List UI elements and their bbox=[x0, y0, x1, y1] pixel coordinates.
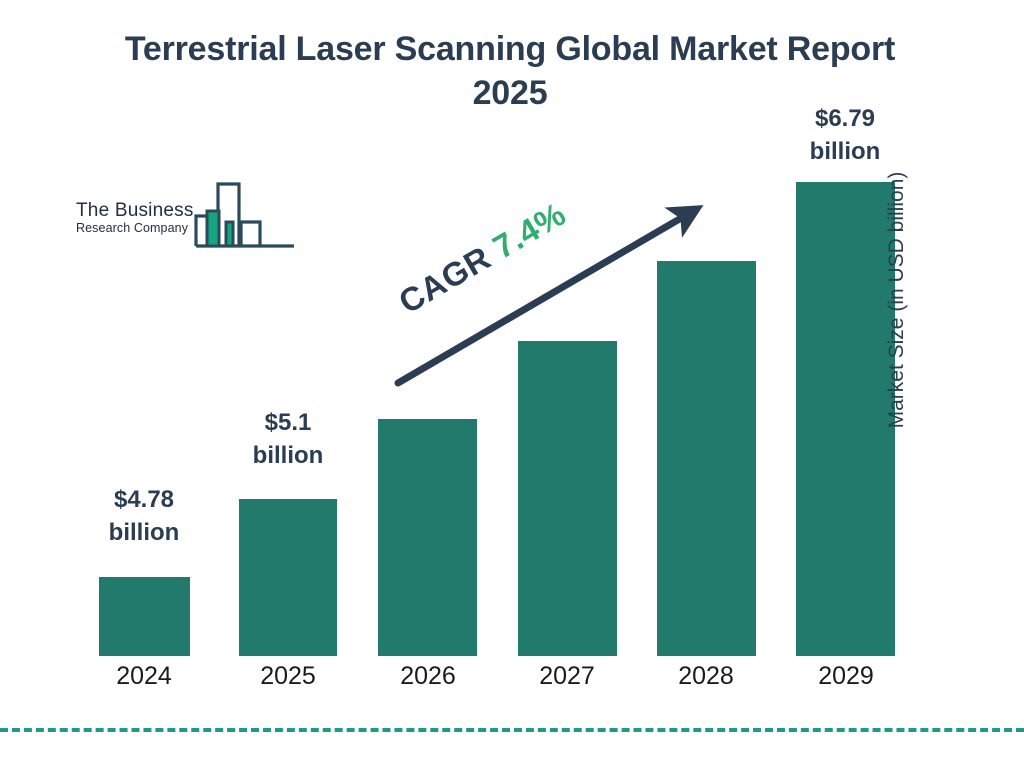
value-label-2024: $4.78 billion bbox=[80, 483, 208, 549]
bar-2024 bbox=[99, 577, 190, 656]
bar-2025 bbox=[239, 499, 337, 656]
x-tick-2026: 2026 bbox=[368, 662, 488, 691]
bar-2029 bbox=[796, 182, 895, 656]
bar-2028 bbox=[657, 261, 756, 656]
y-axis-title: Market Size (in USD billion) bbox=[885, 100, 909, 500]
x-tick-2025: 2025 bbox=[228, 662, 348, 691]
bottom-divider bbox=[0, 728, 1024, 732]
bar-2027 bbox=[518, 341, 617, 656]
x-tick-2024: 2024 bbox=[84, 662, 204, 691]
x-tick-2027: 2027 bbox=[507, 662, 627, 691]
x-tick-2029: 2029 bbox=[786, 662, 906, 691]
bar-2026 bbox=[378, 419, 477, 656]
x-tick-2028: 2028 bbox=[646, 662, 766, 691]
chart-page: Terrestrial Laser Scanning Global Market… bbox=[0, 0, 1024, 768]
value-label-2025: $5.1 billion bbox=[224, 406, 352, 472]
